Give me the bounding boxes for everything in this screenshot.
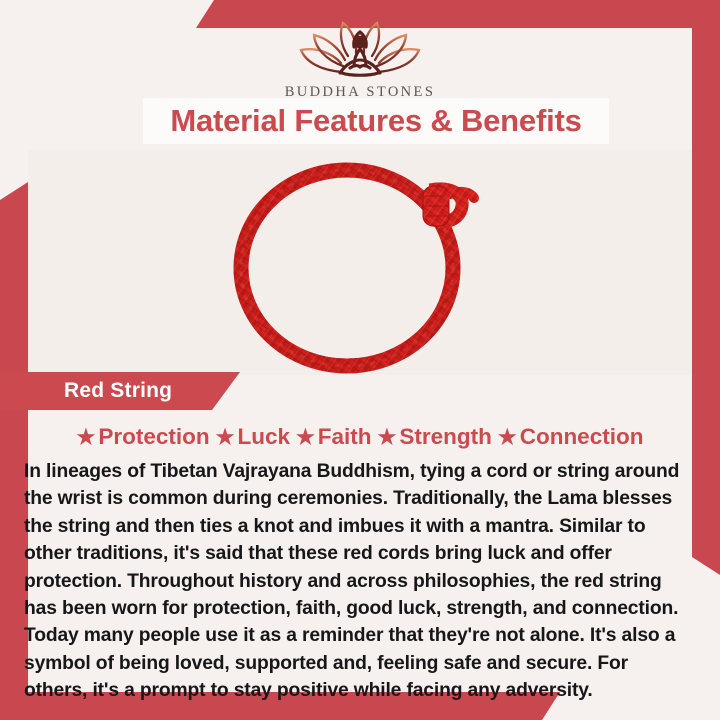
- benefit-item-connection: ★ Connection: [498, 424, 644, 450]
- star-icon: ★: [77, 427, 96, 448]
- description-text: In lineages of Tibetan Vajrayana Buddhis…: [24, 458, 694, 705]
- benefit-label: Strength: [399, 424, 492, 450]
- benefit-item-protection: ★ Protection: [77, 424, 210, 450]
- star-icon: ★: [296, 427, 315, 448]
- benefit-item-luck: ★ Luck: [216, 424, 290, 450]
- benefit-item-strength: ★ Strength: [378, 424, 492, 450]
- star-icon: ★: [216, 427, 235, 448]
- star-icon: ★: [378, 427, 397, 448]
- product-image: [28, 150, 692, 375]
- benefits-list: ★ Protection ★ Luck ★ Faith ★ Strength ★…: [28, 418, 692, 456]
- benefit-item-faith: ★ Faith: [296, 424, 372, 450]
- lotus-meditation-icon: [298, 20, 422, 82]
- benefit-label: Faith: [318, 424, 372, 450]
- benefit-label: Protection: [98, 424, 209, 450]
- red-braided-string-bracelet-icon: [224, 150, 496, 375]
- brand-logo: BUDDHA STONES: [0, 20, 720, 101]
- product-name-ribbon: Red String: [0, 372, 240, 410]
- infographic-page: BUDDHA STONES Material Features & Benefi…: [0, 0, 720, 720]
- benefit-label: Connection: [520, 424, 644, 450]
- product-name-label: Red String: [0, 379, 172, 403]
- benefit-label: Luck: [237, 424, 290, 450]
- page-title: Material Features & Benefits: [170, 103, 581, 139]
- title-banner: Material Features & Benefits: [143, 98, 609, 144]
- star-icon: ★: [498, 427, 517, 448]
